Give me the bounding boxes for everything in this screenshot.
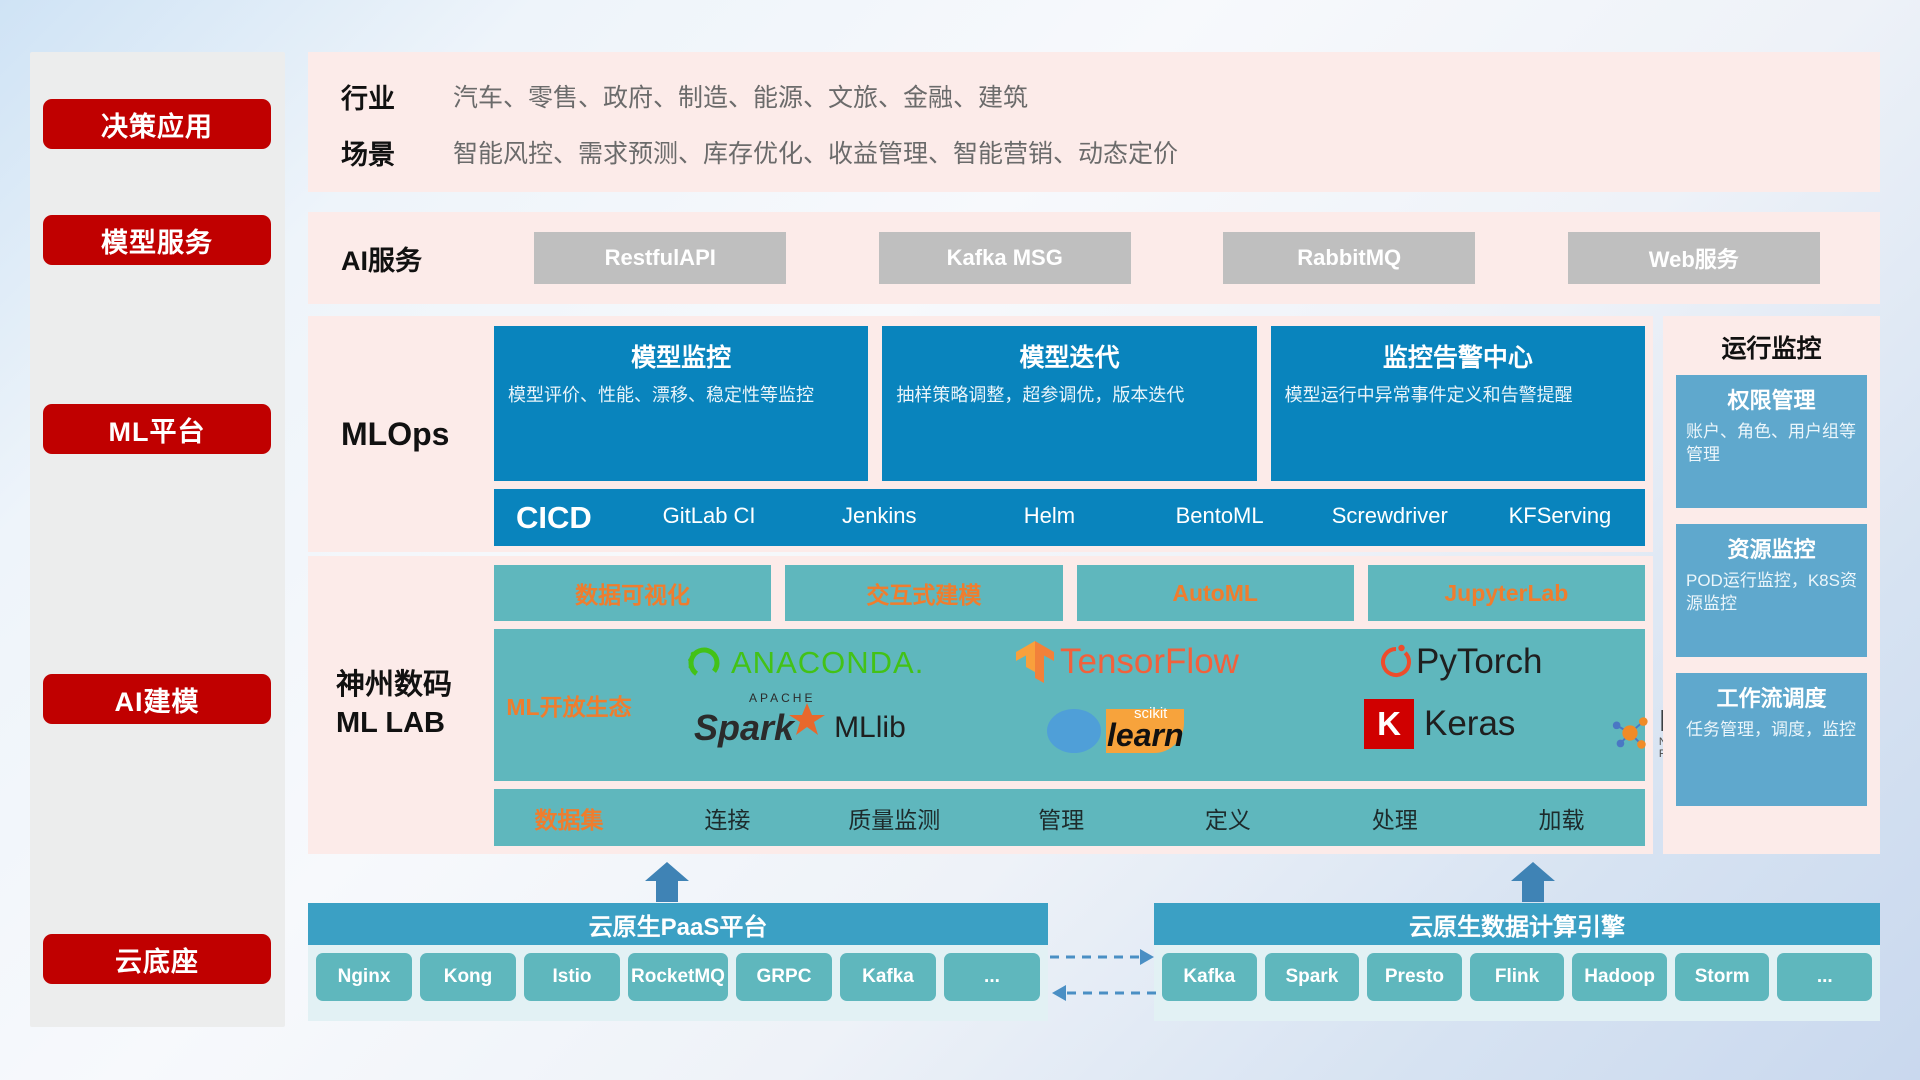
dataset-item-manage[interactable]: 管理 bbox=[978, 801, 1145, 835]
cicd-tool-gitlab-ci[interactable]: GitLab CI bbox=[624, 489, 794, 530]
card-title: 监控告警中心 bbox=[1285, 338, 1631, 374]
keras-mark: K bbox=[1364, 699, 1414, 749]
ai-service-panel: AI服务 RestfulAPI Kafka MSG RabbitMQ Web服务 bbox=[308, 212, 1880, 304]
cicd-row: CICD GitLab CI Jenkins Helm BentoML Scre… bbox=[494, 489, 1645, 546]
engine-chip-storm[interactable]: Storm bbox=[1675, 953, 1770, 1001]
mllib-wordmark: MLlib bbox=[834, 711, 906, 745]
cicd-tool-kfserving[interactable]: KFServing bbox=[1475, 489, 1645, 530]
cloud-native-paas-box: 云原生PaaS平台 Nginx Kong Istio RocketMQ GRPC… bbox=[308, 903, 1048, 1021]
cicd-tool-bentoml[interactable]: BentoML bbox=[1135, 489, 1305, 530]
engine-chip-presto[interactable]: Presto bbox=[1367, 953, 1462, 1001]
tensorflow-mark bbox=[1014, 639, 1056, 685]
card-desc: 账户、角色、用户组等管理 bbox=[1686, 421, 1857, 467]
networkx-mark bbox=[1609, 711, 1653, 755]
card-desc: 任务管理，调度，监控 bbox=[1686, 719, 1857, 742]
dataset-item-connect[interactable]: 连接 bbox=[644, 801, 811, 835]
ml-open-ecosystem-label: ML开放生态 bbox=[494, 688, 644, 722]
paas-chip-kong[interactable]: Kong bbox=[420, 953, 516, 1001]
ecosystem-logo-group: ANACONDA. TensorFlow PyTorch bbox=[644, 629, 1645, 781]
cicd-label: CICD bbox=[494, 489, 624, 546]
dataset-item-load[interactable]: 加载 bbox=[1478, 801, 1645, 835]
cloud-native-data-engine-box: 云原生数据计算引擎 Kafka Spark Presto Flink Hadoo… bbox=[1154, 903, 1880, 1021]
engine-chip-more[interactable]: ... bbox=[1777, 953, 1872, 1001]
scenario-row: 场景 智能风控、需求预测、库存优化、收益管理、智能营销、动态定价 bbox=[341, 126, 1178, 178]
tab-jupyterlab[interactable]: JupyterLab bbox=[1368, 565, 1645, 621]
apache-spark-mllib-logo: APACHE Spark MLlib bbox=[694, 701, 906, 755]
runtime-monitor-title: 运行监控 bbox=[1663, 329, 1880, 365]
ml-lab-label-line2: ML LAB bbox=[336, 705, 445, 743]
decision-application-panel: 行业 汽车、零售、政府、制造、能源、文旅、金融、建筑 场景 智能风控、需求预测、… bbox=[308, 52, 1880, 192]
cicd-tool-screwdriver[interactable]: Screwdriver bbox=[1305, 489, 1475, 530]
mlops-label: MLOps bbox=[341, 316, 449, 552]
dataset-item-define[interactable]: 定义 bbox=[1144, 801, 1311, 835]
paas-up-arrow-icon bbox=[644, 862, 690, 902]
monitor-card-permission[interactable]: 权限管理 账户、角色、用户组等管理 bbox=[1676, 375, 1867, 508]
tab-automl[interactable]: AutoML bbox=[1077, 565, 1354, 621]
runtime-monitor-panel: 运行监控 权限管理 账户、角色、用户组等管理 资源监控 POD运行监控，K8S资… bbox=[1663, 316, 1880, 854]
monitor-card-workflow[interactable]: 工作流调度 任务管理，调度，监控 bbox=[1676, 673, 1867, 806]
pytorch-mark bbox=[1379, 641, 1413, 683]
paas-chip-kafka[interactable]: Kafka bbox=[840, 953, 936, 1001]
service-chip-restfulapi[interactable]: RestfulAPI bbox=[534, 232, 786, 284]
service-chip-rabbitmq[interactable]: RabbitMQ bbox=[1223, 232, 1475, 284]
service-chip-kafka-msg[interactable]: Kafka MSG bbox=[879, 232, 1131, 284]
left-layer-rail: 决策应用 模型服务 ML平台 AI建模 云底座 bbox=[30, 52, 285, 1027]
rail-item-cloud-base[interactable]: 云底座 bbox=[43, 934, 271, 984]
ai-service-cell: Web服务 bbox=[1522, 232, 1867, 284]
engine-title: 云原生数据计算引擎 bbox=[1154, 903, 1880, 945]
engine-up-arrow-icon bbox=[1510, 862, 1556, 902]
anaconda-logo: ANACONDA. bbox=[684, 643, 924, 683]
architecture-diagram: 决策应用 模型服务 ML平台 AI建模 云底座 行业 汽车、零售、政府、制造、能… bbox=[0, 0, 1920, 1080]
ai-service-cell: RestfulAPI bbox=[488, 232, 833, 284]
engine-chip-row: Kafka Spark Presto Flink Hadoop Storm ..… bbox=[1154, 945, 1880, 1009]
card-title: 模型迭代 bbox=[896, 338, 1242, 374]
spark-wordmark: Spark bbox=[694, 707, 794, 748]
anaconda-mark bbox=[684, 643, 724, 683]
paas-chip-rocketmq[interactable]: RocketMQ bbox=[628, 953, 728, 1001]
engine-chip-hadoop[interactable]: Hadoop bbox=[1572, 953, 1667, 1001]
keras-logo: K Keras bbox=[1364, 699, 1515, 749]
keras-wordmark: Keras bbox=[1424, 704, 1515, 744]
rail-item-model-service[interactable]: 模型服务 bbox=[43, 215, 271, 265]
monitor-card-resource[interactable]: 资源监控 POD运行监控，K8S资源监控 bbox=[1676, 524, 1867, 657]
ml-lab-label: 神州数码 ML LAB bbox=[336, 556, 452, 854]
ai-service-chip-row: RestfulAPI Kafka MSG RabbitMQ Web服务 bbox=[488, 212, 1866, 304]
tensorflow-logo: TensorFlow bbox=[1014, 639, 1239, 685]
industry-row: 行业 汽车、零售、政府、制造、能源、文旅、金融、建筑 bbox=[341, 70, 1028, 122]
paas-chip-more[interactable]: ... bbox=[944, 953, 1040, 1001]
ai-service-cell: RabbitMQ bbox=[1177, 232, 1522, 284]
mlops-card-model-iteration[interactable]: 模型迭代 抽样策略调整，超参调优，版本迭代 bbox=[882, 326, 1256, 481]
dataset-item-process[interactable]: 处理 bbox=[1311, 801, 1478, 835]
engine-chip-spark[interactable]: Spark bbox=[1265, 953, 1360, 1001]
pytorch-logo: PyTorch bbox=[1379, 641, 1542, 683]
mlops-card-row: 模型监控 模型评价、性能、漂移、稳定性等监控 模型迭代 抽样策略调整，超参调优，… bbox=[494, 326, 1645, 481]
ai-service-label: AI服务 bbox=[341, 212, 422, 304]
ml-lab-panel: 神州数码 ML LAB 数据可视化 交互式建模 AutoML JupyterLa… bbox=[308, 556, 1653, 854]
cicd-tool-helm[interactable]: Helm bbox=[964, 489, 1134, 530]
scikit-learn-logo: scikit learn bbox=[1044, 703, 1194, 755]
cicd-tool-jenkins[interactable]: Jenkins bbox=[794, 489, 964, 530]
spark-apache-text: APACHE bbox=[749, 691, 815, 705]
mlops-panel: MLOps 模型监控 模型评价、性能、漂移、稳定性等监控 模型迭代 抽样策略调整… bbox=[308, 316, 1653, 552]
dataset-label: 数据集 bbox=[494, 801, 644, 835]
card-title: 模型监控 bbox=[508, 338, 854, 374]
ml-open-ecosystem-band: ML开放生态 ANACONDA. bbox=[494, 629, 1645, 781]
tab-data-visualization[interactable]: 数据可视化 bbox=[494, 565, 771, 621]
pytorch-wordmark: PyTorch bbox=[1416, 642, 1542, 682]
tab-interactive-modeling[interactable]: 交互式建模 bbox=[785, 565, 1062, 621]
rail-item-decision-app[interactable]: 决策应用 bbox=[43, 99, 271, 149]
paas-chip-nginx[interactable]: Nginx bbox=[316, 953, 412, 1001]
rail-item-ai-modeling[interactable]: AI建模 bbox=[43, 674, 271, 724]
dataset-item-quality[interactable]: 质量监测 bbox=[811, 801, 978, 835]
scenario-label: 场景 bbox=[341, 133, 453, 172]
scenario-values: 智能风控、需求预测、库存优化、收益管理、智能营销、动态定价 bbox=[453, 134, 1178, 170]
card-desc: 模型评价、性能、漂移、稳定性等监控 bbox=[508, 383, 854, 407]
ai-service-cell: Kafka MSG bbox=[833, 232, 1178, 284]
paas-title: 云原生PaaS平台 bbox=[308, 903, 1048, 945]
mlops-card-alert-center[interactable]: 监控告警中心 模型运行中异常事件定义和告警提醒 bbox=[1271, 326, 1645, 481]
engine-chip-kafka[interactable]: Kafka bbox=[1162, 953, 1257, 1001]
card-desc: POD运行监控，K8S资源监控 bbox=[1686, 570, 1857, 616]
engine-chip-flink[interactable]: Flink bbox=[1470, 953, 1565, 1001]
card-title: 资源监控 bbox=[1686, 532, 1857, 564]
bidirectional-dashed-connector-icon bbox=[1048, 945, 1158, 1005]
dataset-row: 数据集 连接 质量监测 管理 定义 处理 加载 bbox=[494, 789, 1645, 846]
paas-chip-row: Nginx Kong Istio RocketMQ GRPC Kafka ... bbox=[308, 945, 1048, 1009]
industry-label: 行业 bbox=[341, 77, 453, 116]
learn-wordmark: learn bbox=[1107, 717, 1183, 754]
card-desc: 模型运行中异常事件定义和告警提醒 bbox=[1285, 383, 1631, 407]
paas-chip-grpc[interactable]: GRPC bbox=[736, 953, 832, 1001]
paas-chip-istio[interactable]: Istio bbox=[524, 953, 620, 1001]
tensorflow-wordmark: TensorFlow bbox=[1060, 642, 1239, 682]
service-chip-web-service[interactable]: Web服务 bbox=[1568, 232, 1820, 284]
ml-lab-label-line1: 神州数码 bbox=[336, 667, 452, 705]
card-title: 工作流调度 bbox=[1686, 681, 1857, 713]
anaconda-wordmark: ANACONDA. bbox=[731, 645, 924, 681]
card-title: 权限管理 bbox=[1686, 383, 1857, 415]
card-desc: 抽样策略调整，超参调优，版本迭代 bbox=[896, 383, 1242, 407]
mlops-card-model-monitoring[interactable]: 模型监控 模型评价、性能、漂移、稳定性等监控 bbox=[494, 326, 868, 481]
industry-values: 汽车、零售、政府、制造、能源、文旅、金融、建筑 bbox=[453, 78, 1028, 114]
ml-lab-tab-row: 数据可视化 交互式建模 AutoML JupyterLab bbox=[494, 565, 1645, 621]
rail-item-ml-platform[interactable]: ML平台 bbox=[43, 404, 271, 454]
